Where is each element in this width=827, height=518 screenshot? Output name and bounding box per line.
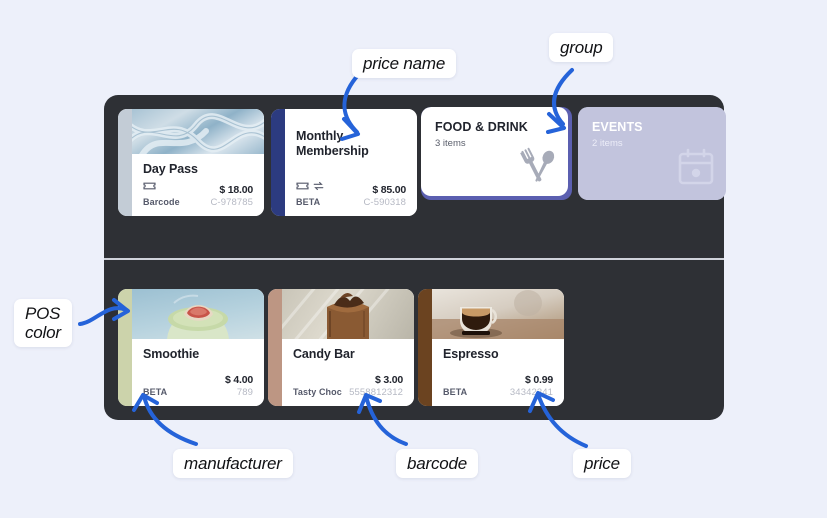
product-photo xyxy=(282,289,414,339)
pos-color-strip xyxy=(268,289,282,406)
product-photo xyxy=(132,109,264,154)
annotation-label-price: price xyxy=(573,449,631,478)
pos-color-strip xyxy=(418,289,432,406)
product-manufacturer: Barcode xyxy=(143,197,180,207)
product-name: Smoothie xyxy=(143,347,253,362)
ticket-icon xyxy=(143,178,156,196)
annotation-label-group: group xyxy=(549,33,613,62)
annotation-arrow-price-name xyxy=(335,72,395,167)
product-card-body: Smoothie $ 4.00 BETA 789 xyxy=(132,289,264,406)
recurring-icon xyxy=(313,178,324,196)
product-price: $ 0.99 xyxy=(525,374,553,386)
product-barcode: 789 xyxy=(237,387,253,398)
annotation-label-barcode: barcode xyxy=(396,449,478,478)
product-price: $ 4.00 xyxy=(225,374,253,386)
ticket-icon xyxy=(296,178,309,196)
annotation-arrow-pos-color xyxy=(78,296,136,334)
product-photo xyxy=(132,289,264,339)
product-photo xyxy=(432,289,564,339)
product-price: $ 3.00 xyxy=(375,374,403,386)
annotation-arrow-barcode xyxy=(358,392,420,454)
product-icons xyxy=(143,178,156,196)
annotation-label-pos-color: POS color xyxy=(14,299,72,347)
product-card-content: Day Pass $ 18.00 Barcode xyxy=(132,154,264,216)
product-icons xyxy=(296,178,324,196)
annotation-arrow-manufacturer xyxy=(130,392,210,454)
product-card[interactable]: Candy Bar $ 3.00 Tasty Choc 5558812312 xyxy=(268,289,414,406)
product-card[interactable]: Day Pass $ 18.00 Barcode xyxy=(118,109,264,216)
pos-color-strip xyxy=(118,109,132,216)
product-name: Espresso xyxy=(443,347,553,362)
product-card-body: Candy Bar $ 3.00 Tasty Choc 5558812312 xyxy=(282,289,414,406)
annotation-arrow-price xyxy=(528,388,594,454)
products-panel: Day Pass $ 18.00 Barcode xyxy=(104,95,724,420)
annotation-label-price-name: price name xyxy=(352,49,456,78)
product-name: Day Pass xyxy=(143,162,253,177)
product-name: Candy Bar xyxy=(293,347,403,362)
annotation-arrow-group xyxy=(535,68,605,158)
product-card-footer: $ 18.00 Barcode C-978785 xyxy=(143,182,253,208)
product-manufacturer: Tasty Choc xyxy=(293,387,342,397)
product-barcode: C-590318 xyxy=(363,197,406,208)
group-title: EVENTS xyxy=(592,120,712,134)
product-manufacturer: BETA xyxy=(296,197,320,207)
calendar-icon xyxy=(675,146,717,193)
product-card[interactable]: Smoothie $ 4.00 BETA 789 xyxy=(118,289,264,406)
annotation-label-manufacturer: manufacturer xyxy=(173,449,293,478)
product-price: $ 85.00 xyxy=(372,184,406,196)
product-price: $ 18.00 xyxy=(219,184,253,196)
product-manufacturer: BETA xyxy=(443,387,467,397)
product-card-body: Day Pass $ 18.00 Barcode xyxy=(132,109,264,216)
panel-row-divider xyxy=(104,258,724,260)
product-card-footer: $ 85.00 BETA C-590318 xyxy=(296,182,406,208)
product-barcode: C-978785 xyxy=(210,197,253,208)
pos-color-strip xyxy=(271,109,285,216)
